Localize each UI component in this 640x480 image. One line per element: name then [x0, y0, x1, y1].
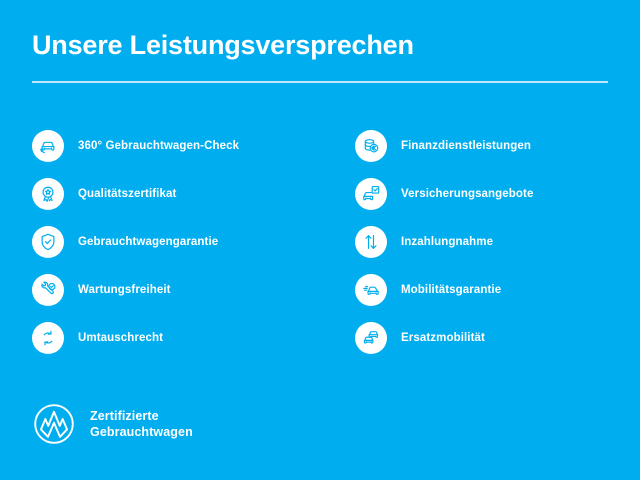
- list-item: Inzahlungnahme: [355, 218, 640, 266]
- list-item-label: Umtauschrecht: [78, 331, 163, 345]
- header: Unsere Leistungsversprechen: [32, 28, 608, 62]
- list-item-label: Gebrauchtwagengarantie: [78, 235, 218, 249]
- list-item: Finanzdienstleistungen: [355, 122, 640, 170]
- arrows-up-down-icon: [355, 226, 387, 258]
- exchange-arrows-icon: [32, 322, 64, 354]
- list-item-label: Versicherungsangebote: [401, 187, 533, 201]
- list-item: Ersatzmobilität: [355, 314, 640, 362]
- list-item-label: Mobilitätsgarantie: [401, 283, 501, 297]
- list-item-label: Ersatzmobilität: [401, 331, 485, 345]
- award-rosette-icon: [32, 178, 64, 210]
- header-divider: [32, 81, 608, 83]
- shield-check-icon: [32, 226, 64, 258]
- benefits-column-left: 360° Gebrauchtwagen-Check Qualitätszerti…: [0, 122, 320, 362]
- two-cars-icon: [355, 322, 387, 354]
- list-item-label: Qualitätszertifikat: [78, 187, 176, 201]
- list-item: Gebrauchtwagengarantie: [32, 218, 320, 266]
- benefits-columns: 360° Gebrauchtwagen-Check Qualitätszerti…: [0, 122, 640, 362]
- list-item: Umtauschrecht: [32, 314, 320, 362]
- brand-footer: Zertifizierte Gebrauchtwagen: [32, 402, 193, 446]
- brand-footer-line1: Zertifizierte: [90, 409, 159, 423]
- list-item: Qualitätszertifikat: [32, 170, 320, 218]
- car-360-check-icon: [32, 130, 64, 162]
- list-item: Versicherungsangebote: [355, 170, 640, 218]
- wrench-check-icon: [32, 274, 64, 306]
- list-item-label: 360° Gebrauchtwagen-Check: [78, 139, 239, 153]
- vw-logo-icon: [32, 402, 76, 446]
- benefits-column-right: Finanzdienstleistungen Versicherungsange…: [320, 122, 640, 362]
- list-item-label: Finanzdienstleistungen: [401, 139, 531, 153]
- list-item: 360° Gebrauchtwagen-Check: [32, 122, 320, 170]
- list-item-label: Wartungsfreiheit: [78, 283, 171, 297]
- car-document-icon: [355, 178, 387, 210]
- list-item-label: Inzahlungnahme: [401, 235, 493, 249]
- car-motion-icon: [355, 274, 387, 306]
- promise-panel: Unsere Leistungsversprechen 360° Gebrauc…: [0, 0, 640, 480]
- page-title: Unsere Leistungsversprechen: [32, 28, 608, 62]
- coins-euro-icon: [355, 130, 387, 162]
- list-item: Mobilitätsgarantie: [355, 266, 640, 314]
- list-item: Wartungsfreiheit: [32, 266, 320, 314]
- brand-footer-line2: Gebrauchtwagen: [90, 424, 193, 440]
- brand-footer-text: Zertifizierte Gebrauchtwagen: [90, 408, 193, 440]
